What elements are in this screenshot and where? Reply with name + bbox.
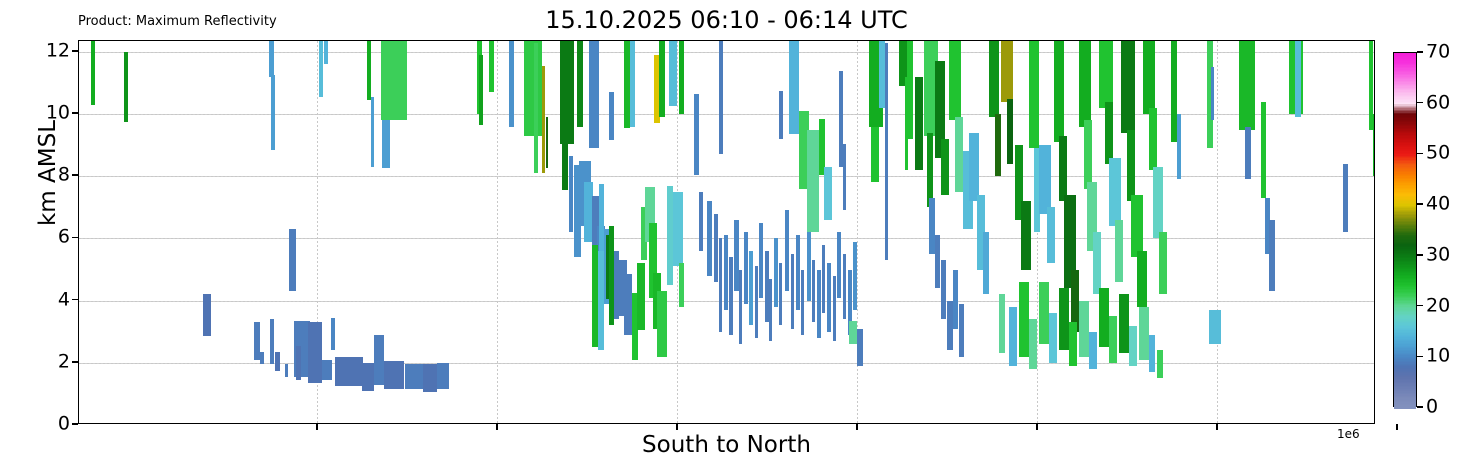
reflectivity-column <box>1269 220 1275 292</box>
reflectivity-column <box>849 321 857 344</box>
reflectivity-column <box>1099 41 1113 108</box>
radar-cross-section-figure: Product: Maximum Reflectivity 15.10.2025… <box>0 0 1482 470</box>
reflectivity-column <box>827 263 831 331</box>
reflectivity-column <box>1121 41 1135 133</box>
reflectivity-column <box>1039 145 1051 213</box>
reflectivity-column <box>1021 201 1031 269</box>
reflectivity-column <box>577 41 583 127</box>
reflectivity-column <box>1343 164 1348 232</box>
reflectivity-column <box>907 41 913 139</box>
reflectivity-column <box>1115 220 1123 282</box>
reflectivity-column <box>1209 310 1221 344</box>
reflectivity-column <box>1139 307 1149 360</box>
y-axis-tick-mark <box>72 423 78 425</box>
gridline-vertical <box>497 41 498 423</box>
reflectivity-column <box>1119 294 1129 353</box>
gridline-vertical <box>1217 41 1218 423</box>
colorbar <box>1393 52 1417 407</box>
colorbar-gradient <box>1393 52 1417 407</box>
x-axis-tick-mark <box>1396 424 1398 430</box>
colorbar-tick-label: 0 <box>1426 398 1438 417</box>
reflectivity-column <box>1007 99 1013 164</box>
reflectivity-column <box>509 41 514 127</box>
reflectivity-column <box>1079 301 1089 357</box>
reflectivity-column <box>1143 41 1155 114</box>
reflectivity-column <box>915 77 923 170</box>
colorbar-tick-label: 70 <box>1426 43 1450 62</box>
reflectivity-column <box>707 201 712 276</box>
reflectivity-column <box>1105 102 1113 164</box>
reflectivity-column <box>837 232 841 297</box>
reflectivity-column <box>1159 232 1167 294</box>
colorbar-tick-mark <box>1417 406 1423 408</box>
reflectivity-column <box>779 263 782 325</box>
colorbar-tick-label: 20 <box>1426 296 1450 315</box>
reflectivity-column <box>935 235 940 288</box>
reflectivity-column <box>598 251 604 350</box>
x-axis-label: South to North <box>78 432 1375 458</box>
reflectivity-column <box>755 266 758 338</box>
reflectivity-column <box>1039 282 1049 344</box>
reflectivity-column <box>271 75 275 150</box>
reflectivity-column <box>843 254 846 319</box>
reflectivity-column <box>609 92 614 140</box>
reflectivity-column <box>260 352 264 364</box>
reflectivity-column <box>659 41 665 117</box>
reflectivity-column <box>1239 41 1255 130</box>
reflectivity-column <box>969 133 979 201</box>
reflectivity-column <box>796 235 800 310</box>
reflectivity-column <box>744 232 748 304</box>
reflectivity-column <box>779 91 783 139</box>
reflectivity-column <box>949 41 961 120</box>
reflectivity-column <box>609 226 614 325</box>
reflectivity-column <box>1177 114 1181 179</box>
colorbar-tick-label: 30 <box>1426 245 1450 264</box>
colorbar-segment <box>1394 407 1416 409</box>
colorbar-tick-mark <box>1417 356 1423 358</box>
reflectivity-column <box>1109 158 1121 226</box>
y-axis-label: km AMSL <box>35 43 61 303</box>
x-axis-exponent: 1e6 <box>1337 427 1360 441</box>
reflectivity-column <box>1373 114 1374 176</box>
reflectivity-column <box>1089 332 1097 369</box>
reflectivity-column <box>589 41 599 148</box>
page-title: 15.10.2025 06:10 - 06:14 UTC <box>78 5 1375 35</box>
reflectivity-column <box>319 41 323 97</box>
reflectivity-column <box>853 242 857 310</box>
reflectivity-column <box>739 270 742 345</box>
reflectivity-column <box>1054 41 1064 142</box>
reflectivity-column <box>423 364 437 392</box>
reflectivity-column <box>1079 41 1091 127</box>
y-axis-tick-mark <box>72 361 78 363</box>
reflectivity-column <box>989 41 999 117</box>
reflectivity-column <box>791 254 794 329</box>
colorbar-tick-mark <box>1417 254 1423 256</box>
reflectivity-column <box>479 55 483 125</box>
reflectivity-column <box>955 117 963 192</box>
reflectivity-column <box>1093 232 1101 294</box>
reflectivity-column <box>489 41 494 92</box>
reflectivity-column <box>1127 130 1135 202</box>
reflectivity-column <box>542 66 545 173</box>
reflectivity-column <box>1129 326 1137 366</box>
reflectivity-column <box>1047 207 1055 263</box>
reflectivity-column <box>1019 282 1029 357</box>
y-axis-tick-label: 2 <box>58 352 70 371</box>
plot-area <box>78 40 1375 424</box>
reflectivity-column <box>91 41 95 105</box>
reflectivity-column <box>774 238 778 306</box>
x-axis-tick-mark <box>1036 424 1038 430</box>
reflectivity-column <box>308 322 322 383</box>
reflectivity-column <box>1261 102 1266 198</box>
reflectivity-column <box>437 363 449 389</box>
reflectivity-column <box>1149 108 1157 170</box>
reflectivity-column <box>699 192 703 251</box>
reflectivity-column <box>630 41 635 127</box>
x-axis-tick-mark <box>676 424 678 430</box>
reflectivity-column <box>1001 41 1013 102</box>
reflectivity-column <box>1059 288 1069 350</box>
reflectivity-column <box>843 144 846 211</box>
reflectivity-column <box>275 352 280 371</box>
x-axis-tick-mark <box>496 424 498 430</box>
reflectivity-column <box>729 257 733 335</box>
reflectivity-column <box>371 97 374 167</box>
reflectivity-column <box>679 41 684 114</box>
x-axis-tick-mark <box>856 424 858 430</box>
reflectivity-column <box>203 294 211 336</box>
reflectivity-column <box>673 192 683 267</box>
reflectivity-column <box>562 102 568 191</box>
reflectivity-column <box>999 294 1005 353</box>
reflectivity-column <box>374 335 384 385</box>
reflectivity-column <box>871 127 879 183</box>
reflectivity-column <box>724 235 728 310</box>
reflectivity-column <box>1245 127 1251 180</box>
reflectivity-column <box>679 263 684 307</box>
reflectivity-column <box>801 270 804 335</box>
reflectivity-column <box>983 232 989 294</box>
reflectivity-column <box>1009 307 1017 366</box>
reflectivity-column <box>714 214 718 282</box>
colorbar-tick-label: 60 <box>1426 93 1450 112</box>
reflectivity-column <box>382 120 390 168</box>
reflectivity-column <box>1153 167 1163 239</box>
reflectivity-column <box>769 279 772 341</box>
reflectivity-column <box>1069 322 1077 366</box>
reflectivity-column <box>296 346 301 380</box>
colorbar-tick-mark <box>1417 153 1423 155</box>
y-axis-tick-mark <box>72 50 78 52</box>
reflectivity-column <box>1157 350 1163 378</box>
colorbar-tick-mark <box>1417 305 1423 307</box>
reflectivity-column <box>749 251 753 326</box>
colorbar-tick-label: 10 <box>1426 347 1450 366</box>
reflectivity-column <box>953 270 958 329</box>
reflectivity-column <box>857 329 863 366</box>
reflectivity-column <box>694 94 699 175</box>
reflectivity-column <box>807 130 819 233</box>
reflectivity-column <box>1211 67 1214 120</box>
y-axis-tick-mark <box>72 299 78 301</box>
reflectivity-column <box>822 245 825 313</box>
reflectivity-column <box>807 226 811 301</box>
reflectivity-column <box>534 43 538 174</box>
reflectivity-column <box>1029 319 1037 369</box>
plot-clip <box>79 41 1374 423</box>
reflectivity-column <box>669 41 677 106</box>
reflectivity-column <box>1084 120 1092 188</box>
reflectivity-column <box>885 43 888 261</box>
reflectivity-column <box>324 41 328 64</box>
reflectivity-column <box>1109 316 1117 363</box>
reflectivity-column <box>812 260 815 322</box>
reflectivity-column <box>824 167 832 220</box>
reflectivity-column <box>1099 288 1109 347</box>
colorbar-tick-mark <box>1417 203 1423 205</box>
reflectivity-column <box>331 318 335 351</box>
reflectivity-column <box>524 41 542 136</box>
reflectivity-column <box>367 41 371 100</box>
x-axis-tick-mark <box>316 424 318 430</box>
reflectivity-column <box>289 229 296 291</box>
reflectivity-column <box>624 274 632 335</box>
reflectivity-column <box>959 304 964 357</box>
colorbar-tick-mark <box>1417 102 1423 104</box>
reflectivity-column <box>270 319 274 364</box>
y-axis-tick-label: 0 <box>58 415 70 434</box>
reflectivity-column <box>941 139 949 195</box>
y-axis-tick-mark <box>72 174 78 176</box>
reflectivity-column <box>995 114 1001 176</box>
reflectivity-column <box>719 238 722 331</box>
reflectivity-column <box>405 364 423 389</box>
reflectivity-column <box>785 210 789 291</box>
reflectivity-column <box>322 360 332 380</box>
reflectivity-column <box>1149 335 1155 372</box>
reflectivity-column <box>335 357 363 387</box>
reflectivity-column <box>833 276 836 341</box>
reflectivity-column <box>719 41 723 154</box>
colorbar-tick-mark <box>1417 51 1423 53</box>
y-axis-tick-mark <box>72 112 78 114</box>
reflectivity-column <box>1029 41 1039 148</box>
reflectivity-column <box>1059 136 1067 201</box>
reflectivity-column <box>285 364 288 376</box>
reflectivity-column <box>927 133 933 208</box>
reflectivity-column <box>941 260 946 319</box>
reflectivity-column <box>381 41 407 120</box>
reflectivity-column <box>759 223 763 298</box>
reflectivity-column <box>546 117 548 168</box>
reflectivity-column <box>362 363 374 391</box>
reflectivity-column <box>269 41 274 77</box>
reflectivity-column <box>657 291 667 356</box>
colorbar-tick-label: 40 <box>1426 195 1450 214</box>
reflectivity-column <box>1295 41 1301 117</box>
reflectivity-column <box>789 41 799 134</box>
y-axis-tick-mark <box>72 237 78 239</box>
reflectivity-column <box>1137 251 1147 307</box>
reflectivity-column <box>384 361 404 389</box>
colorbar-tick-label: 50 <box>1426 144 1450 163</box>
reflectivity-column <box>1131 195 1143 257</box>
reflectivity-column <box>124 52 128 122</box>
reflectivity-column <box>817 270 821 338</box>
reflectivity-column <box>569 156 573 232</box>
reflectivity-column <box>637 263 645 330</box>
x-axis-tick-mark <box>1216 424 1218 430</box>
reflectivity-column <box>1049 313 1057 363</box>
